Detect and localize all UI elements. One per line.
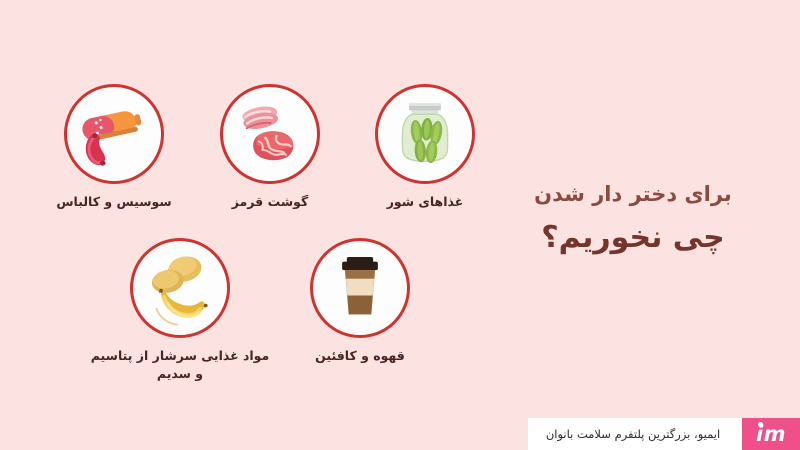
food-item-potassium-sodium: مواد غذایی سرشار از پتاسیم و سدیم [85,238,275,383]
icon-circle-red-meat [220,84,320,184]
brand-logo[interactable]: im [742,418,800,450]
headline-block: برای دختر دار شدن چی نخوریم؟ [488,182,778,256]
infographic-canvas: سوسیس و کالباس [0,0,800,450]
headline-subtitle: برای دختر دار شدن [488,182,778,207]
banana-potato-icon [133,241,227,335]
food-item-coffee-caffeine: قهوه و کافئین [265,238,455,365]
food-item-label: قهوه و کافئین [265,347,455,365]
pickle-jar-icon [378,87,472,181]
icon-circle-salty-foods [375,84,475,184]
footer-bar: ایمیو، بزرگترین پلتفرم سلامت بانوان im [528,418,800,450]
food-item-label: مواد غذایی سرشار از پتاسیم و سدیم [85,347,275,383]
icon-circle-sausage [64,84,164,184]
coffee-cup-icon [313,241,407,335]
red-meat-icon [223,87,317,181]
icon-circle-coffee [310,238,410,338]
sausage-icon [67,87,161,181]
footer-tagline: ایمیو، بزرگترین پلتفرم سلامت بانوان [528,418,742,450]
icon-circle-potassium-sodium [130,238,230,338]
headline-title: چی نخوریم؟ [488,220,778,256]
